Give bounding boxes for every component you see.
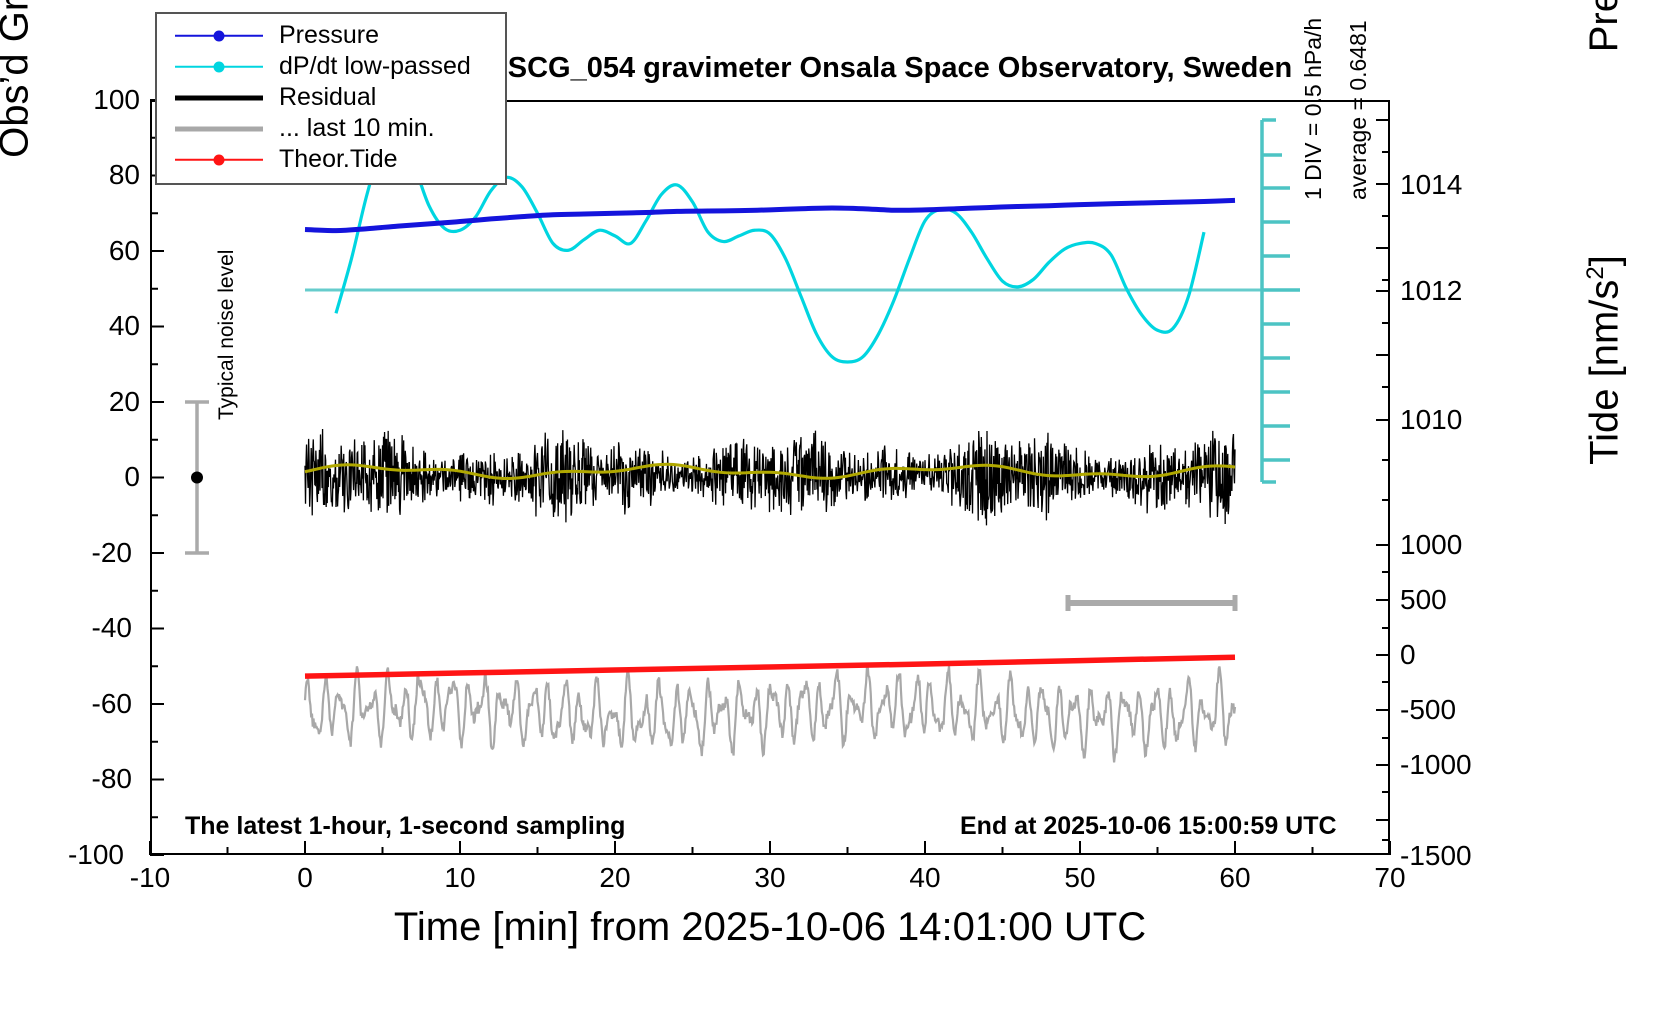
typical-noise-level-label: Typical noise level	[215, 230, 239, 420]
series-residual	[305, 429, 1235, 525]
y-tick-left-0: 100	[78, 84, 140, 116]
legend-item-tide[interactable]: Theor.Tide	[157, 144, 505, 175]
y-axis-ticks-left	[150, 100, 164, 855]
legend-swatch-dpdt	[175, 57, 263, 77]
dpdt-scale-bar	[1262, 120, 1300, 482]
y-tick-left-3: 40	[78, 310, 140, 342]
y-tick-left-5: 0	[78, 461, 140, 493]
pressure-tick-2: 1010	[1400, 404, 1520, 436]
chart-root: SCG_054 gravimeter Onsala Space Observat…	[0, 0, 1660, 1020]
x-tick-1: 0	[265, 862, 345, 894]
dpdt-average-label: average = 0.6481	[1345, 0, 1372, 200]
tide-tick-4: -1000	[1400, 749, 1520, 781]
series-theor-tide	[305, 657, 1235, 676]
legend-label-residual: Residual	[263, 83, 376, 112]
series-last-10-min	[305, 665, 1235, 763]
x-tick-6: 50	[1040, 862, 1120, 894]
tide-tick-1: 500	[1400, 584, 1520, 616]
y-tick-left-8: -60	[70, 688, 132, 720]
legend: Pressure dP/dt low-passed Residual ... l…	[155, 12, 507, 185]
x-tick-2: 10	[420, 862, 500, 894]
y-tick-left-6: -20	[70, 537, 132, 569]
y-tick-left-1: 80	[78, 159, 140, 191]
sampling-note: The latest 1-hour, 1-second sampling	[185, 812, 625, 841]
pressure-tick-0: 1014	[1400, 169, 1520, 201]
tide-tick-5: -1500	[1400, 840, 1520, 872]
y-tick-left-7: -40	[70, 612, 132, 644]
x-axis-ticks	[150, 841, 1390, 855]
legend-label-pressure: Pressure	[263, 21, 379, 50]
dpdt-division-label: 1 DIV = 0.5 hPa/h	[1300, 0, 1327, 200]
legend-item-dpdt[interactable]: dP/dt low-passed	[157, 51, 505, 82]
x-tick-4: 30	[730, 862, 810, 894]
tide-tick-2: 0	[1400, 639, 1520, 671]
legend-label-tide: Theor.Tide	[263, 145, 398, 174]
y-tick-left-4: 20	[78, 386, 140, 418]
tide-tick-3: -500	[1400, 694, 1520, 726]
last-10-min-marker	[1068, 595, 1235, 611]
end-time-note: End at 2025-10-06 15:00:59 UTC	[960, 812, 1337, 841]
tide-tick-0: 1000	[1400, 529, 1520, 561]
legend-item-residual[interactable]: Residual	[157, 82, 505, 113]
legend-label-dpdt: dP/dt low-passed	[263, 52, 471, 81]
legend-swatch-last10	[175, 119, 263, 139]
noise-center-dot	[191, 472, 203, 484]
legend-swatch-pressure	[175, 26, 263, 46]
x-tick-0: -10	[110, 862, 190, 894]
legend-item-last10[interactable]: ... last 10 min.	[157, 113, 505, 144]
legend-item-pressure[interactable]: Pressure	[157, 20, 505, 51]
x-tick-7: 60	[1195, 862, 1275, 894]
pressure-tick-1: 1012	[1400, 275, 1520, 307]
legend-label-last10: ... last 10 min.	[263, 114, 435, 143]
x-tick-5: 40	[885, 862, 965, 894]
y-tick-left-2: 60	[78, 235, 140, 267]
series-pressure	[305, 200, 1235, 230]
legend-swatch-tide	[175, 150, 263, 170]
y-tick-left-9: -80	[70, 763, 132, 795]
x-tick-3: 20	[575, 862, 655, 894]
y-axis-ticks-right	[1376, 120, 1390, 840]
legend-swatch-residual	[175, 88, 263, 108]
